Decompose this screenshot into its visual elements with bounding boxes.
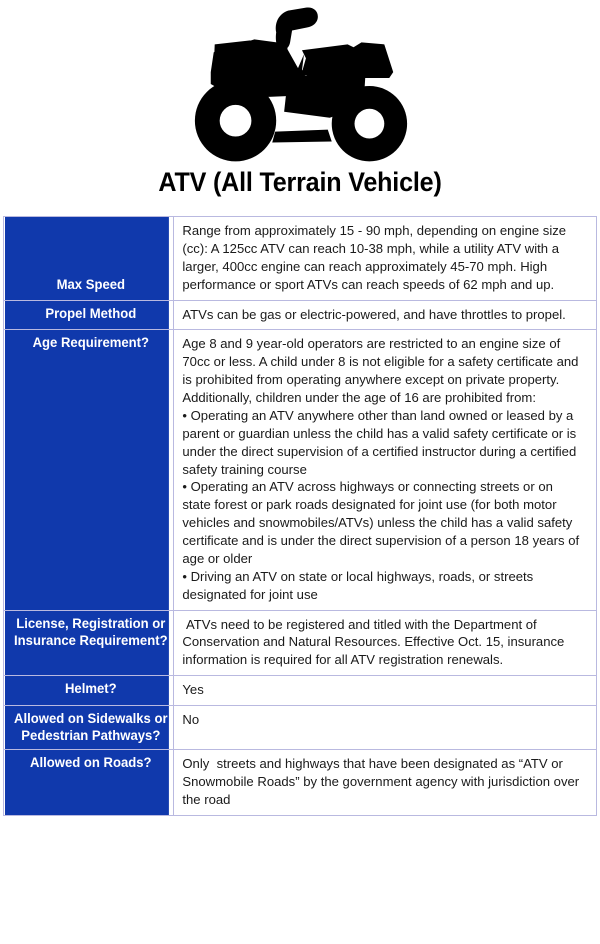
table-row: Age Requirement? Age 8 and 9 year-old op… [4, 330, 597, 610]
row-value-allowed-on-roads: Only streets and highways that have been… [174, 750, 591, 816]
table-row: Propel Method ATVs can be gas or electri… [4, 300, 597, 330]
table-row: Max Speed Range from approximately 15 - … [4, 217, 597, 301]
table-row: Allowed on Roads? Only streets and highw… [4, 750, 597, 816]
table-body: Max Speed Range from approximately 15 - … [4, 217, 597, 816]
atv-fact-sheet: ATV (All Terrain Vehicle) Max Speed Rang… [0, 0, 600, 944]
row-label-helmet: Helmet? [4, 676, 169, 706]
header: ATV (All Terrain Vehicle) [0, 0, 600, 196]
row-value-license-registration: ATVs need to be registered and titled wi… [174, 610, 591, 676]
page-title: ATV (All Terrain Vehicle) [21, 168, 579, 196]
row-value-propel-method: ATVs can be gas or electric-powered, and… [174, 300, 591, 330]
table-row: License, Registration or Insurance Requi… [4, 610, 597, 676]
row-label-age-requirement: Age Requirement? [4, 330, 169, 610]
row-label-max-speed: Max Speed [4, 217, 169, 301]
row-label-propel-method: Propel Method [4, 300, 169, 330]
row-value-max-speed: Range from approximately 15 - 90 mph, de… [174, 217, 591, 301]
specification-table: Max Speed Range from approximately 15 - … [3, 216, 597, 816]
table-row: Helmet? Yes [4, 676, 597, 706]
row-value-helmet: Yes [174, 676, 591, 706]
atv-icon [181, 6, 419, 162]
row-label-license-registration: License, Registration or Insurance Requi… [4, 610, 169, 676]
row-label-allowed-on-roads: Allowed on Roads? [4, 750, 169, 816]
table-row: Allowed on Sidewalks or Pedestrian Pathw… [4, 706, 597, 750]
row-value-age-requirement: Age 8 and 9 year-old operators are restr… [174, 330, 591, 610]
row-label-allowed-on-sidewalks: Allowed on Sidewalks or Pedestrian Pathw… [4, 706, 169, 750]
row-value-allowed-on-sidewalks: No [174, 706, 591, 750]
